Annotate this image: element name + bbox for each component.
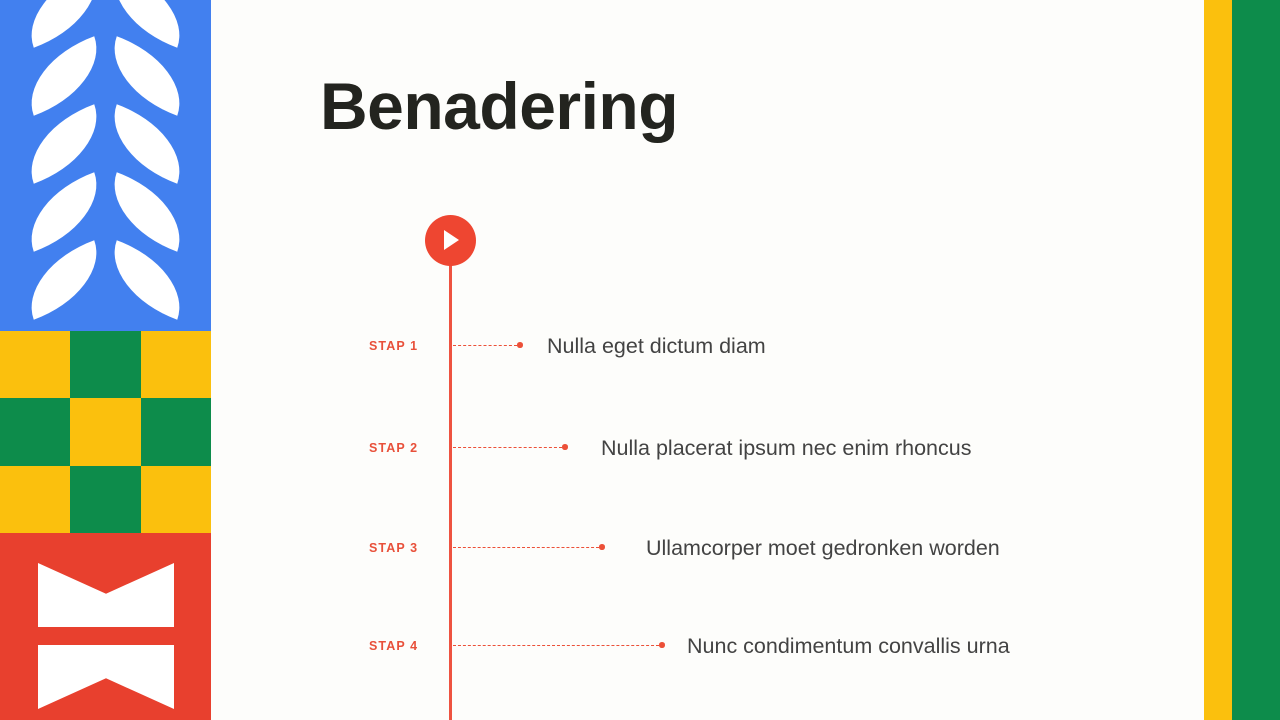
step-description: Nulla eget dictum diam [547,331,766,361]
page-title: Benadering [320,72,678,141]
step-connector-line [453,547,599,548]
checker-cell [141,466,211,533]
leaf-shape [98,104,195,183]
step-label: STAP 1 [369,331,418,361]
timeline-step-row: STAP 2Nulla placerat ipsum nec enim rhon… [0,433,1200,463]
step-label: STAP 2 [369,433,418,463]
leaf-row [0,246,211,314]
checkerboard-grid [0,331,211,533]
leaf-shape [98,172,195,251]
step-connector-arrowhead [599,544,605,550]
step-description: Nunc condimentum convallis urna [687,631,1010,661]
yellow-stripe [1204,0,1232,720]
play-triangle [444,230,459,250]
wheat-leaf-pattern-block [0,0,211,331]
leaf-shape [15,104,112,183]
step-connector-arrowhead [517,342,523,348]
leaf-shape [15,172,112,251]
checker-cell [0,466,70,533]
timeline-step-row: STAP 4Nunc condimentum convallis urna [0,631,1200,661]
step-connector-arrowhead [659,642,665,648]
leaf-row [0,0,211,42]
step-connector-arrowhead [562,444,568,450]
leaf-shape [98,36,195,115]
chevron-shape-top [38,563,174,627]
step-connector-line [453,447,562,448]
checker-cell [70,466,140,533]
timeline-step-row: STAP 3Ullamcorper moet gedronken worden [0,533,1200,563]
step-label: STAP 3 [369,533,418,563]
step-connector-line [453,645,659,646]
leaf-shape [98,240,195,319]
step-label: STAP 4 [369,631,418,661]
timeline-step-row: STAP 1Nulla eget dictum diam [0,331,1200,361]
leaf-shape [15,0,112,48]
leaf-row [0,110,211,178]
leaf-shape [15,36,112,115]
leaf-row [0,42,211,110]
slide-canvas: Benadering STAP 1Nulla eget dictum diamS… [0,0,1280,720]
step-description: Nulla placerat ipsum nec enim rhoncus [601,433,971,463]
green-stripe [1232,0,1280,720]
leaf-row [0,178,211,246]
step-description: Ullamcorper moet gedronken worden [646,533,1000,563]
checkerboard-pattern-block [0,331,211,533]
leaf-shape [98,0,195,48]
step-connector-line [453,345,517,346]
leaf-shape [15,240,112,319]
play-icon[interactable] [425,215,476,266]
